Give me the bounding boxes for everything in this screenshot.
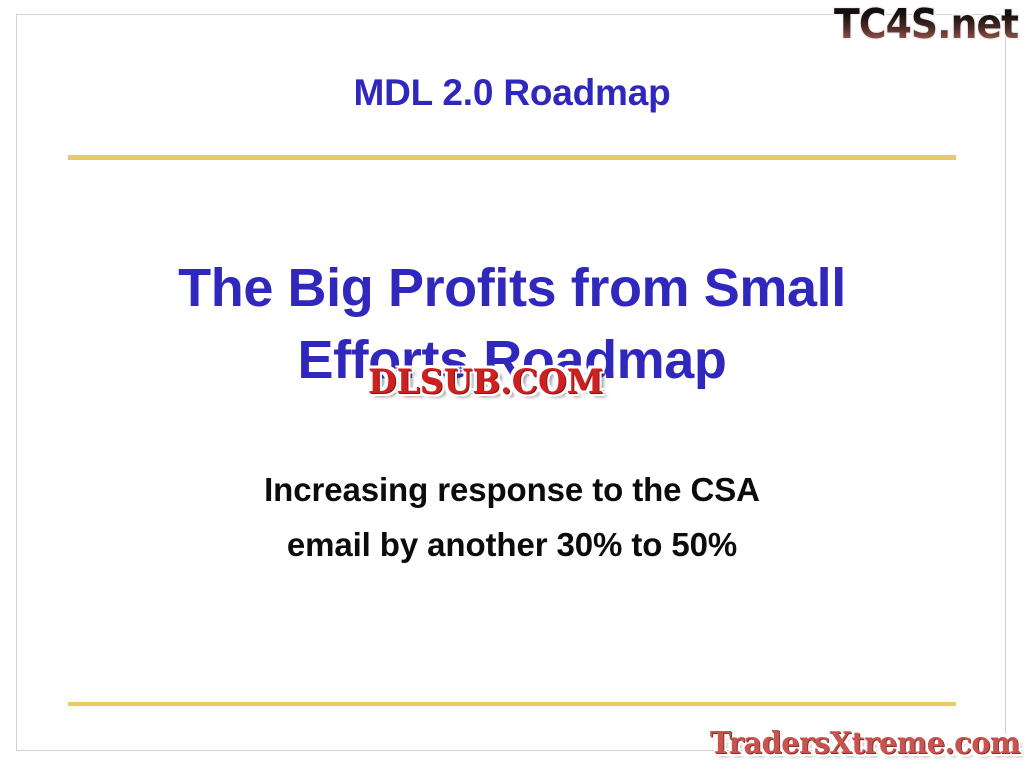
watermark-dlsub-text: DLSUB.COM bbox=[368, 362, 603, 402]
watermark-tc4s-text: TC4S.net bbox=[834, 2, 1018, 46]
watermark-tc4s: TC4S.net TC4S.net bbox=[834, 2, 1018, 46]
watermark-dlsub: DLSUB.COM DLSUB.COM bbox=[368, 362, 603, 402]
main-heading-line-1: The Big Profits from Small bbox=[0, 252, 1024, 324]
divider-bottom bbox=[68, 702, 956, 706]
subtitle-line-1: Increasing response to the CSA bbox=[0, 462, 1024, 517]
divider-top bbox=[68, 155, 956, 160]
subtitle-line-2: email by another 30% to 50% bbox=[0, 517, 1024, 572]
subtitle: Increasing response to the CSA email by … bbox=[0, 462, 1024, 572]
slide-title: MDL 2.0 Roadmap bbox=[0, 72, 1024, 114]
watermark-tradersxtreme-text: TradersXtreme.com bbox=[710, 726, 1020, 762]
watermark-tradersxtreme: TradersXtreme.com TradersXtreme.com bbox=[710, 726, 1020, 762]
